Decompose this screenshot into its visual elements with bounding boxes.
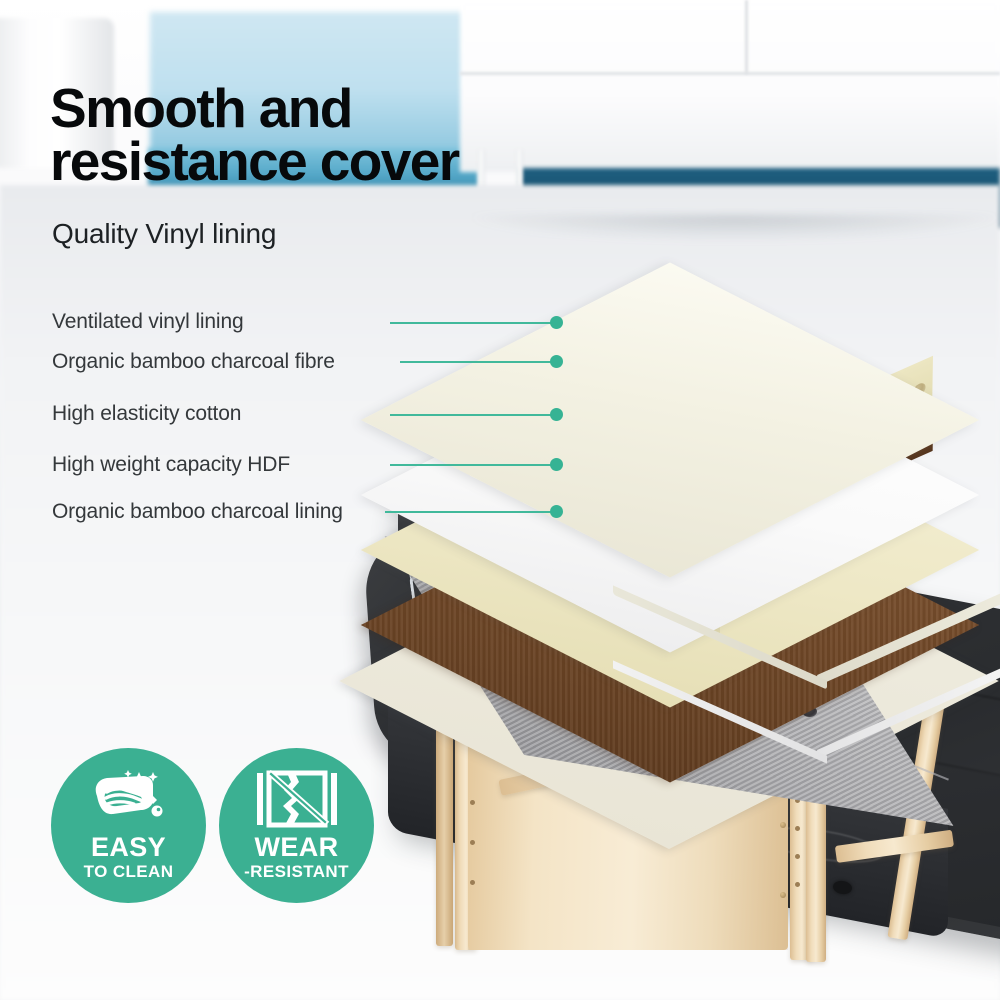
feature-label-1: Ventilated vinyl lining [52, 310, 244, 334]
background-cabinet-seam [460, 72, 1000, 75]
leader-dot-1 [550, 316, 563, 329]
product-feature-image: Smooth and resistance cover Quality Viny… [0, 0, 1000, 1000]
leader-line-3 [390, 414, 556, 416]
leader-dot-5 [550, 505, 563, 518]
feature-label-5: Organic bamboo charcoal lining [52, 500, 343, 524]
badge-1-line-2: TO CLEAN [51, 862, 206, 882]
leader-line-2 [400, 361, 556, 363]
feature-label-3: High elasticity cotton [52, 402, 241, 426]
leader-dot-3 [550, 408, 563, 421]
headline-line-2: resistance cover [50, 135, 570, 188]
headline-line-1: Smooth and [50, 82, 570, 135]
badge-wear-resistant: WEAR -RESISTANT [219, 748, 374, 903]
leader-dot-2 [550, 355, 563, 368]
badge-1-line-1: EASY [51, 832, 206, 863]
badge-easy-to-clean: EASY TO CLEAN [51, 748, 206, 903]
leader-dot-4 [550, 458, 563, 471]
leader-line-1 [390, 322, 556, 324]
leader-line-4 [390, 464, 556, 466]
feature-label-2: Organic bamboo charcoal fibre [52, 350, 335, 374]
leader-line-5 [385, 511, 556, 513]
feature-label-4: High weight capacity HDF [52, 453, 290, 477]
crossed-cracked-panel-icon [219, 770, 374, 828]
subtitle: Quality Vinyl lining [52, 218, 276, 250]
page-title: Smooth and resistance cover [50, 82, 570, 188]
badge-2-line-2: -RESISTANT [219, 862, 374, 882]
wiping-hand-sparkle-icon [51, 770, 206, 828]
badge-2-line-1: WEAR [219, 832, 374, 863]
background-cabinet-seam-vertical [745, 0, 748, 74]
